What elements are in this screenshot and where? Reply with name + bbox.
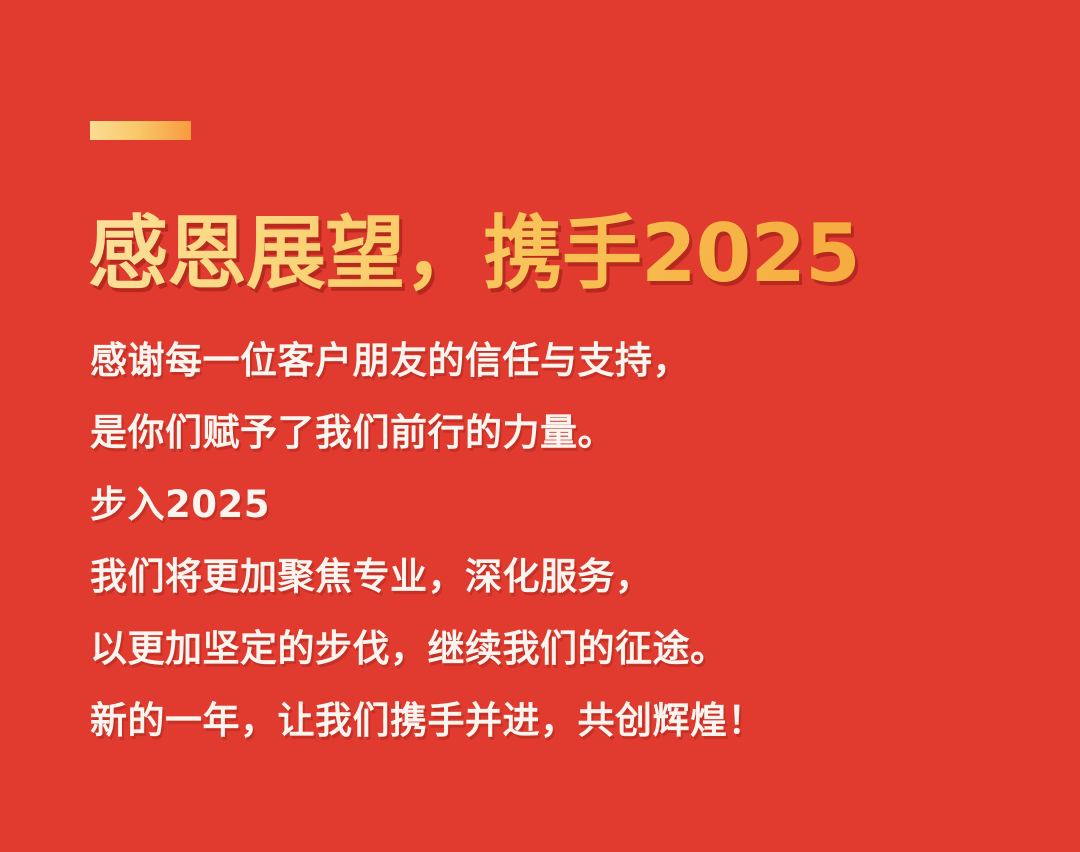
message-line: 我们将更加聚焦专业，深化服务， bbox=[90, 541, 1020, 613]
message-line: 以更加坚定的步伐，继续我们的征途。 bbox=[90, 613, 1020, 685]
message-line: 是你们赋予了我们前行的力量。 bbox=[90, 397, 1020, 469]
message-body: 感谢每一位客户朋友的信任与支持， 是你们赋予了我们前行的力量。 步入2025 我… bbox=[90, 325, 1020, 757]
message-line: 步入2025 bbox=[90, 469, 1020, 541]
page-title: 感恩展望，携手2025 bbox=[88, 204, 988, 304]
greeting-poster: 感恩展望，携手2025 感谢每一位客户朋友的信任与支持， 是你们赋予了我们前行的… bbox=[0, 0, 1080, 852]
message-line: 感谢每一位客户朋友的信任与支持， bbox=[90, 325, 1020, 397]
decorative-accent-bar bbox=[90, 121, 191, 140]
message-line: 新的一年，让我们携手并进，共创辉煌！ bbox=[90, 685, 1020, 757]
